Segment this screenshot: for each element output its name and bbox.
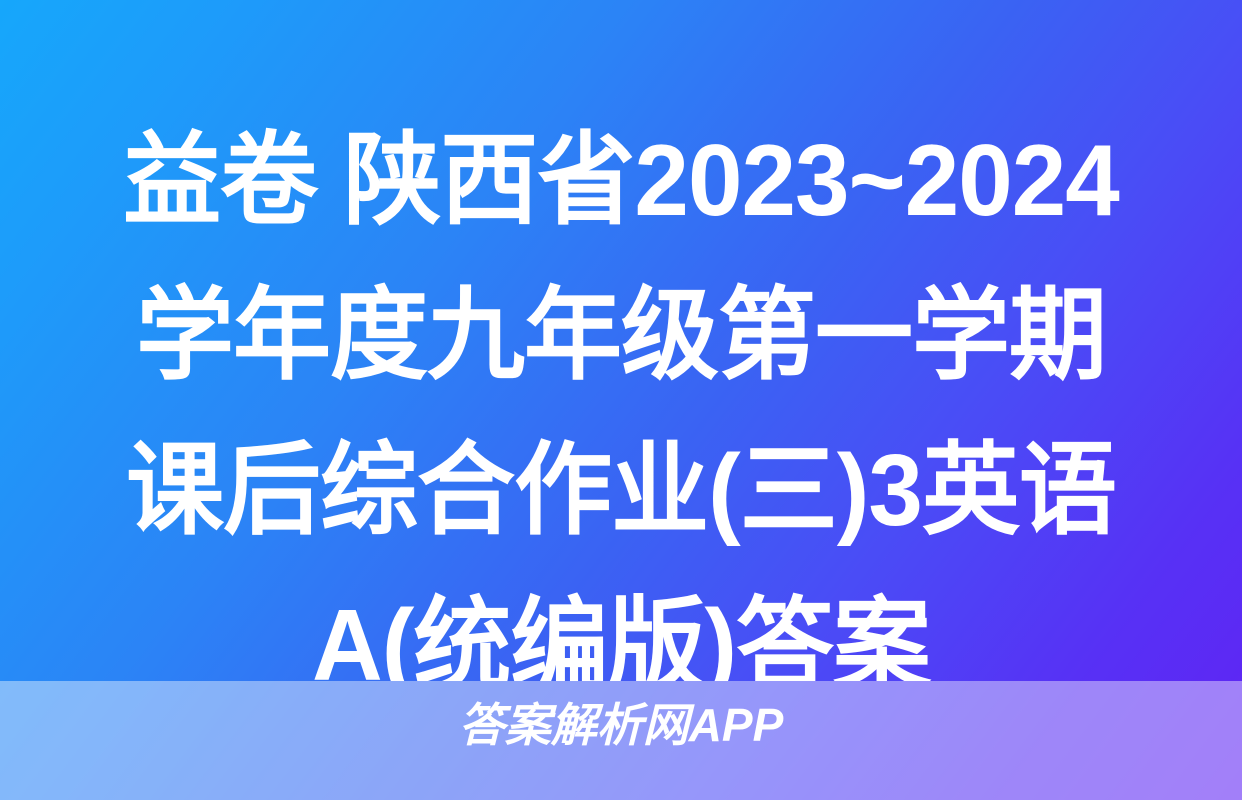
title-area: 益卷 陕西省2023~2024学年度九年级第一学期课后综合作业(三)3英语A(统…	[0, 0, 1242, 681]
cover-page: 益卷 陕西省2023~2024学年度九年级第一学期课后综合作业(三)3英语A(统…	[0, 0, 1242, 800]
page-title-text: 益卷 陕西省2023~2024学年度九年级第一学期课后综合作业(三)3英语A(统…	[97, 104, 1145, 681]
page-title: 益卷 陕西省2023~2024学年度九年级第一学期课后综合作业(三)3英语A(统…	[81, 104, 1161, 681]
footer-brand: 答案解析网APP	[0, 697, 1242, 753]
footer-band: 答案解析网APP	[0, 681, 1242, 800]
